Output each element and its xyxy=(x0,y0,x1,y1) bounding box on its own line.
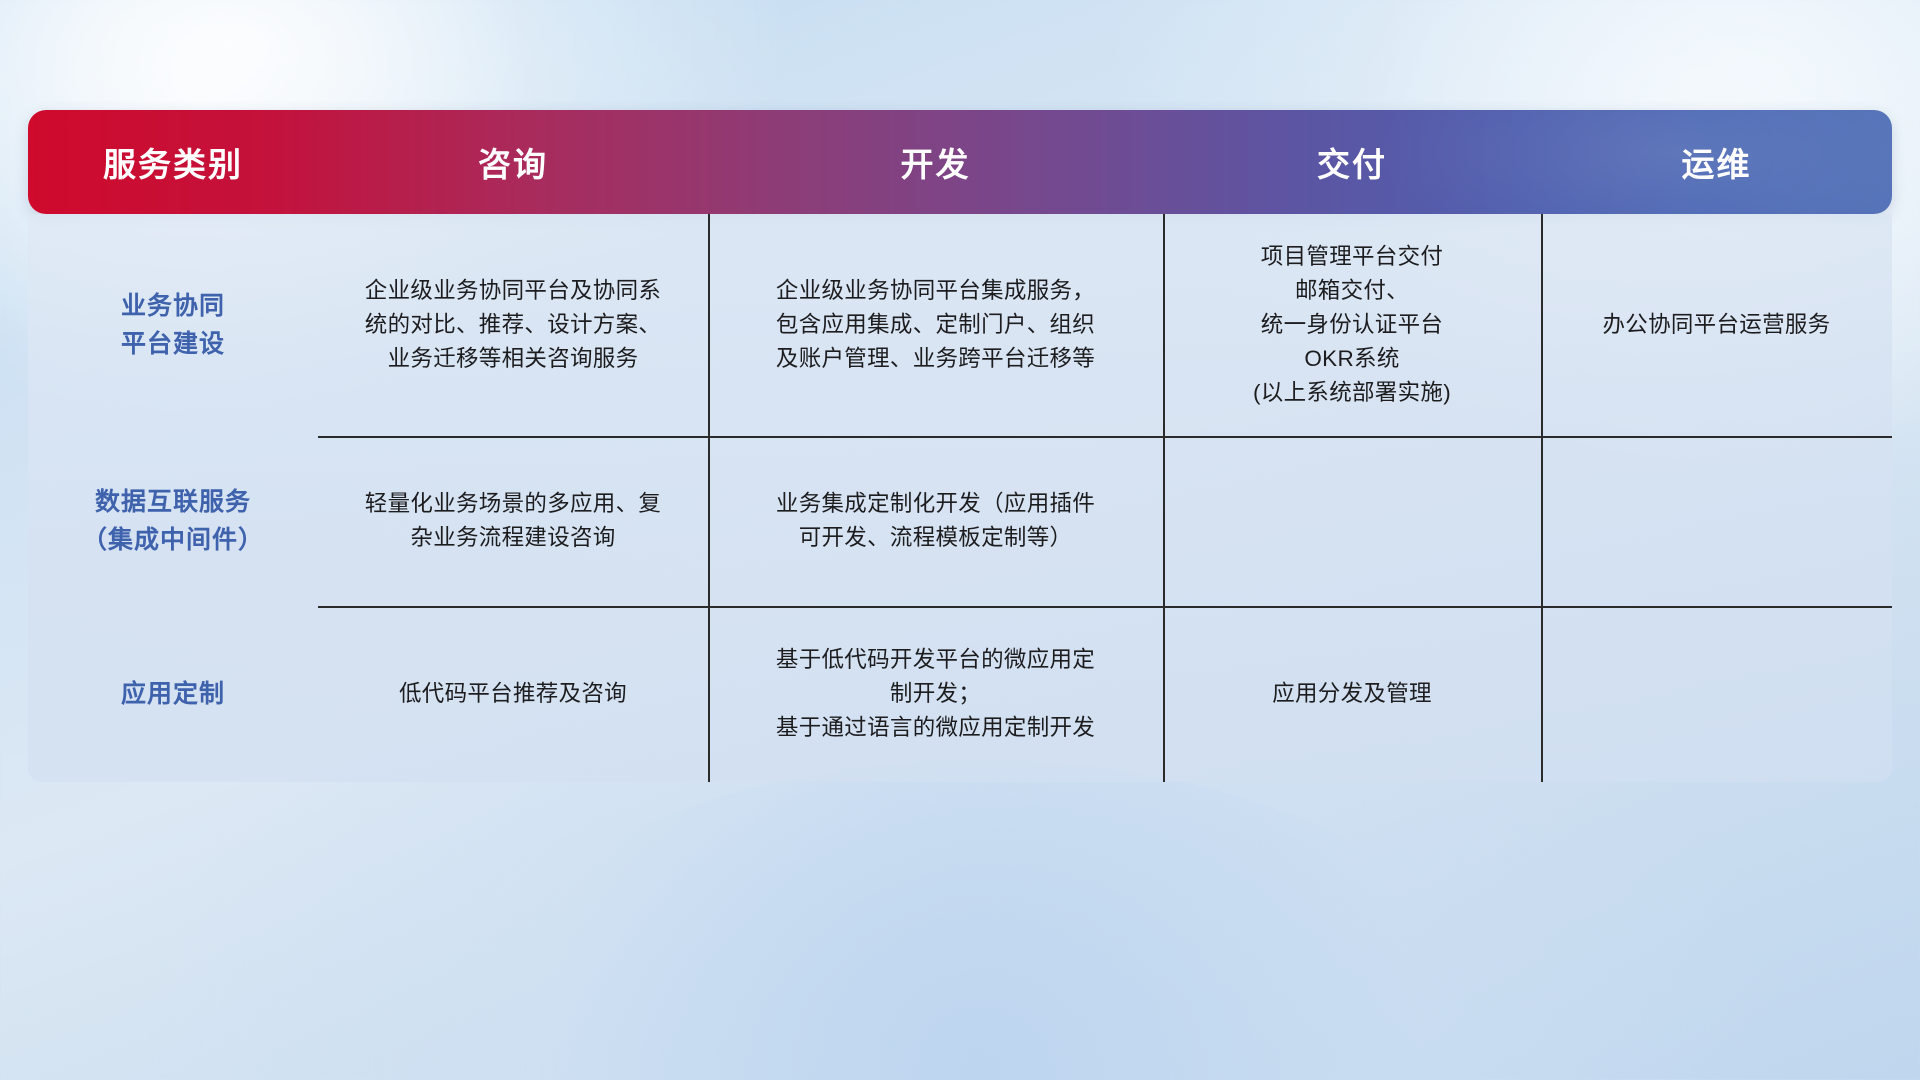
grid-vline-delivery-operations xyxy=(1541,214,1543,782)
cell-consulting-row2: 轻量化业务场景的多应用、复 杂业务流程建设咨询 xyxy=(318,436,708,606)
row-label-app-customization: 应用定制 xyxy=(28,606,318,782)
table-header-row: 服务类别 咨询 开发 交付 运维 xyxy=(28,110,1892,214)
row-label-business-collaboration: 业务协同 平台建设 xyxy=(28,214,318,436)
service-matrix-table: 服务类别 咨询 开发 交付 运维 业务协同 平台建设 企业级业务协同平台及协同系… xyxy=(28,110,1892,782)
grid-hline-row2-row3 xyxy=(318,606,1892,608)
cell-development-row1: 企业级业务协同平台集成服务， 包含应用集成、定制门户、组织 及账户管理、业务跨平… xyxy=(708,214,1163,436)
table-row: 业务协同 平台建设 企业级业务协同平台及协同系 统的对比、推荐、设计方案、 业务… xyxy=(28,214,1892,436)
grid-vline-consulting-development xyxy=(708,214,710,782)
column-header-development: 开发 xyxy=(708,138,1163,186)
cell-operations-row3 xyxy=(1541,606,1892,782)
row-label-data-integration: 数据互联服务 （集成中间件） xyxy=(28,436,318,606)
background-bloom-bottom xyxy=(430,760,1530,1080)
column-header-category: 服务类别 xyxy=(28,138,318,186)
cell-development-row3: 基于低代码开发平台的微应用定 制开发； 基于通过语言的微应用定制开发 xyxy=(708,606,1163,782)
column-header-delivery: 交付 xyxy=(1163,138,1541,186)
cell-operations-row1: 办公协同平台运营服务 xyxy=(1541,214,1892,436)
column-header-consulting: 咨询 xyxy=(318,138,708,186)
column-header-operations: 运维 xyxy=(1541,138,1892,186)
cell-development-row2: 业务集成定制化开发（应用插件 可开发、流程模板定制等） xyxy=(708,436,1163,606)
table-row: 数据互联服务 （集成中间件） 轻量化业务场景的多应用、复 杂业务流程建设咨询 业… xyxy=(28,436,1892,606)
cell-delivery-row1: 项目管理平台交付 邮箱交付、 统一身份认证平台 OKR系统 (以上系统部署实施) xyxy=(1163,214,1541,436)
cell-delivery-row3: 应用分发及管理 xyxy=(1163,606,1541,782)
table-body: 业务协同 平台建设 企业级业务协同平台及协同系 统的对比、推荐、设计方案、 业务… xyxy=(28,214,1892,782)
cell-delivery-row2 xyxy=(1163,436,1541,606)
grid-vline-development-delivery xyxy=(1163,214,1165,782)
table-row: 应用定制 低代码平台推荐及咨询 基于低代码开发平台的微应用定 制开发； 基于通过… xyxy=(28,606,1892,782)
cell-consulting-row3: 低代码平台推荐及咨询 xyxy=(318,606,708,782)
grid-hline-row1-row2 xyxy=(318,436,1892,438)
cell-operations-row2 xyxy=(1541,436,1892,606)
cell-consulting-row1: 企业级业务协同平台及协同系 统的对比、推荐、设计方案、 业务迁移等相关咨询服务 xyxy=(318,214,708,436)
